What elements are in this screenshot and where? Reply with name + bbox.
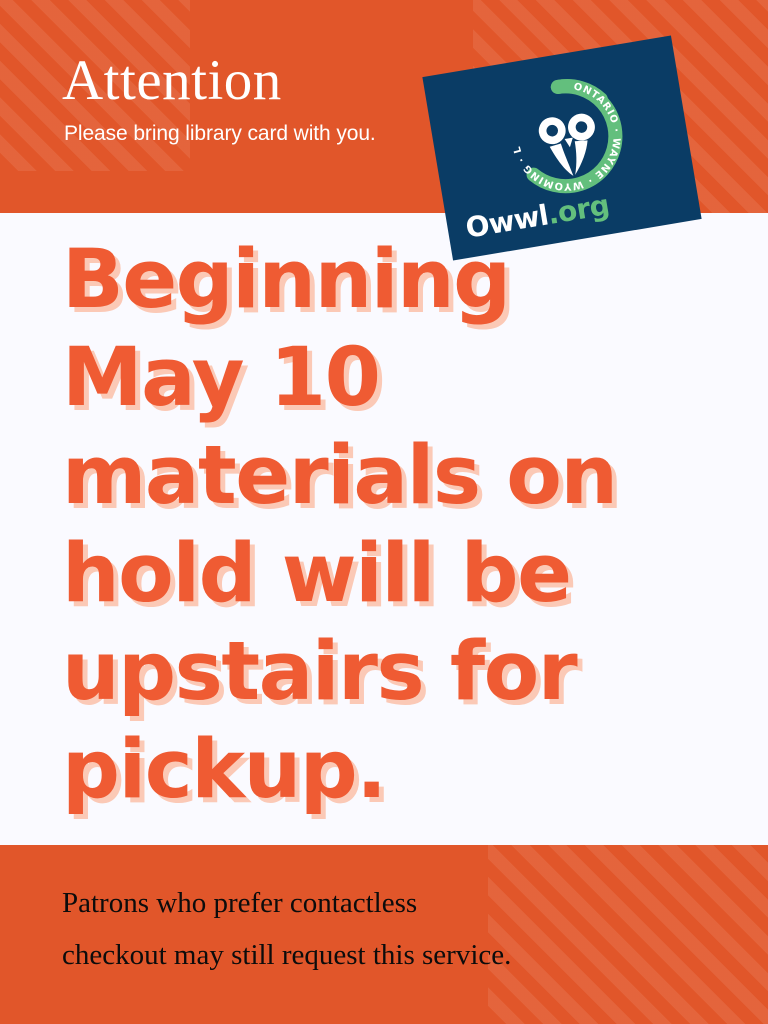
owl-icon: ONTARIO · WAYNE · WYOMING · LIVINGSTON: [492, 62, 639, 209]
footer-band: Patrons who prefer contactless checkout …: [0, 845, 768, 1024]
poster-canvas: Attention Please bring library card with…: [0, 0, 768, 1024]
headline-line-6: pickup.: [62, 721, 702, 819]
headline-line-2: May 10: [62, 329, 702, 427]
footer-note-line-2: checkout may still request this service.: [62, 929, 722, 981]
page-title: Attention: [62, 52, 376, 109]
headline: Beginning May 10 materials on hold will …: [62, 231, 702, 819]
footer-note-line-1: Patrons who prefer contactless: [62, 877, 722, 929]
header-subtitle: Please bring library card with you.: [64, 121, 376, 146]
headline-line-3: materials on: [62, 427, 702, 525]
header-text-block: Attention Please bring library card with…: [62, 52, 376, 146]
footer-note: Patrons who prefer contactless checkout …: [62, 877, 722, 981]
main-content: Beginning May 10 materials on hold will …: [0, 213, 768, 845]
owwl-wordmark-primary: Owwl: [463, 198, 550, 244]
headline-line-1: Beginning: [62, 231, 702, 329]
headline-line-5: upstairs for: [62, 623, 702, 721]
headline-line-4: hold will be: [62, 525, 702, 623]
